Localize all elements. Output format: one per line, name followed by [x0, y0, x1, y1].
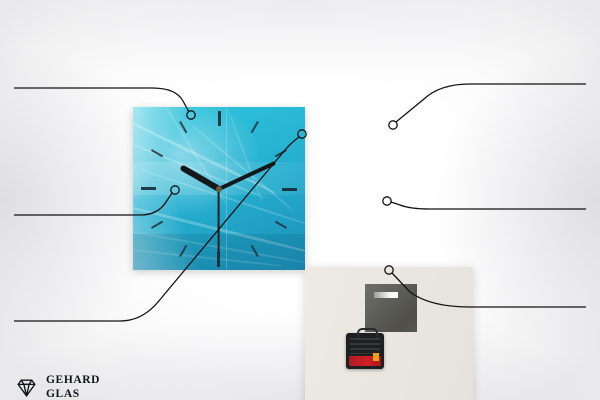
clock-back-image	[305, 267, 473, 400]
infographic-canvas: GEHARD GLAS Bestand tegen breuk en krass…	[0, 0, 600, 400]
feature-title: GEHARD GLAS	[46, 373, 100, 400]
quartz-mechanism	[346, 333, 384, 369]
title-line-1: GEHARD	[46, 373, 100, 387]
tick-12	[218, 111, 220, 189]
mechanism-grooves	[350, 338, 380, 354]
metal-hanger-swatch	[365, 284, 417, 332]
tick-9	[141, 188, 219, 190]
clock-front-image	[133, 107, 305, 270]
feature-gehard-glas: GEHARD GLAS Bestand tegen breuk en krass…	[14, 373, 222, 400]
battery	[349, 356, 381, 366]
hand-center-cap	[216, 186, 222, 192]
diamond-icon	[14, 375, 39, 400]
title-line-2: GLAS	[46, 387, 100, 400]
feature-header: GEHARD GLAS	[14, 373, 222, 400]
tick-3	[219, 188, 297, 190]
second-hand	[218, 189, 220, 253]
